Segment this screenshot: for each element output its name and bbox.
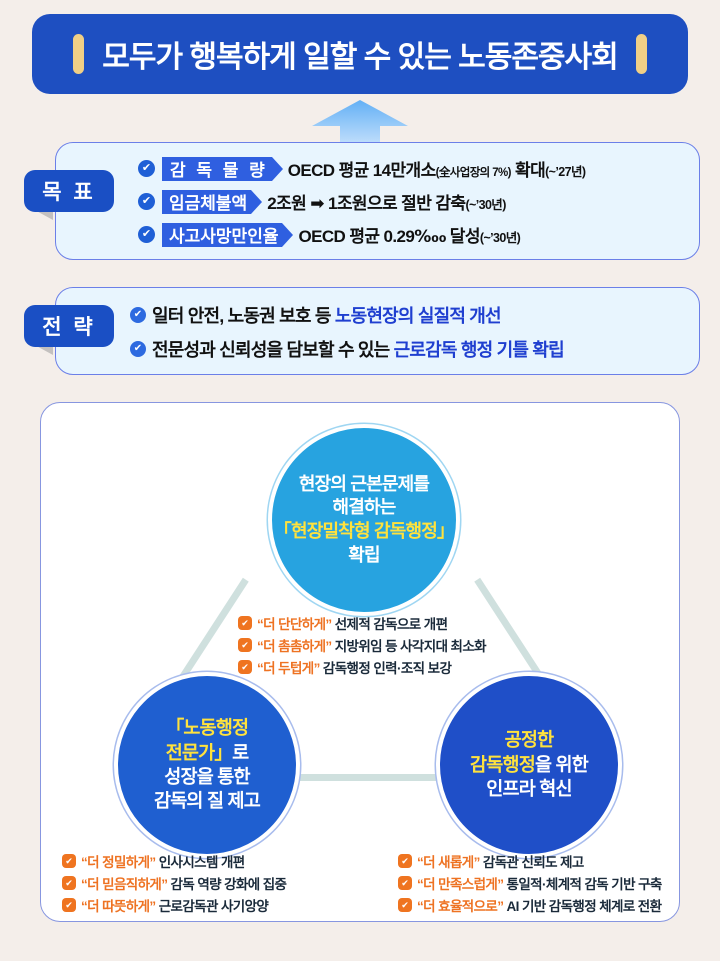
check-icon: ✔ — [62, 876, 76, 890]
circle-left-line1: 「노동행정 — [154, 716, 260, 740]
circle-top-line1: 현장의 근본문제를 — [274, 473, 454, 497]
infographic-page: 모두가 행복하게 일할 수 있는 노동존중사회 목 표 ✔ 감 독 물 량 OE… — [0, 0, 720, 961]
up-arrow-icon — [312, 100, 408, 142]
check-icon: ✔ — [62, 898, 76, 912]
bullet-text: “더 효율적으로” AI 기반 감독행정 체계로 전환 — [417, 895, 661, 915]
bullet-item: ✔ “더 단단하게” 선제적 감독으로 개편 — [238, 612, 486, 634]
check-icon: ✔ — [398, 898, 412, 912]
bullet-text: “더 두텁게” 감독행정 인력·조직 보강 — [257, 657, 451, 677]
circle-left: 「노동행정 전문가」로 성장을 통한 감독의 질 제고 — [114, 672, 300, 858]
circle-left-text: 「노동행정 전문가」로 성장을 통한 감독의 질 제고 — [154, 716, 260, 814]
goal-description: OECD 평균 14만개소(全사업장의 7%) 확대(~’27년) — [288, 156, 586, 181]
bullet-text: “더 촘촘하게” 지방위임 등 사각지대 최소화 — [257, 635, 486, 655]
bullet-item: ✔ “더 촘촘하게” 지방위임 등 사각지대 최소화 — [238, 634, 486, 656]
strategy-text: 전문성과 신뢰성을 담보할 수 있는 근로감독 행정 기틀 확립 — [152, 336, 564, 362]
goal-description: 2조원 ➡ 1조원으로 절반 감축(~’30년) — [267, 189, 506, 214]
circle-top-text: 현장의 근본문제를 해결하는 「현장밀착형 감독행정」 확립 — [274, 473, 454, 568]
check-icon: ✔ — [238, 616, 252, 630]
circle-right-line1: 공정한 — [470, 728, 588, 752]
circle-left-line3: 성장을 통한 — [154, 765, 260, 789]
strategy-row: ✔ 일터 안전, 노동권 보호 등 노동현장의 실질적 개선 — [130, 298, 564, 332]
circle-left-line4: 감독의 질 제고 — [154, 789, 260, 813]
circle-top: 현장의 근본문제를 해결하는 「현장밀착형 감독행정」 확립 — [268, 424, 460, 616]
strategy-row-list: ✔ 일터 안전, 노동권 보호 등 노동현장의 실질적 개선 ✔ 전문성과 신뢰… — [130, 298, 564, 366]
check-icon: ✔ — [138, 226, 155, 243]
goal-row: ✔ 임금체불액 2조원 ➡ 1조원으로 절반 감축(~’30년) — [138, 185, 585, 218]
page-title: 모두가 행복하게 일할 수 있는 노동존중사회 — [102, 32, 617, 76]
strategy-badge: 전 략 — [24, 305, 114, 347]
goal-badge: 목 표 — [24, 170, 114, 212]
check-icon: ✔ — [130, 341, 146, 357]
circle-top-line4: 확립 — [274, 544, 454, 568]
title-accent-left-icon — [73, 34, 84, 74]
bullet-item: ✔ “더 새롭게” 감독관 신뢰도 제고 — [398, 850, 662, 872]
goal-row: ✔ 감 독 물 량 OECD 평균 14만개소(全사업장의 7%) 확대(~’2… — [138, 152, 585, 185]
strategy-row: ✔ 전문성과 신뢰성을 담보할 수 있는 근로감독 행정 기틀 확립 — [130, 332, 564, 366]
circle-top-line2: 해결하는 — [274, 496, 454, 520]
bullet-text: “더 믿음직하게” 감독 역량 강화에 집중 — [81, 873, 286, 893]
bullet-item: ✔ “더 효율적으로” AI 기반 감독행정 체계로 전환 — [398, 894, 662, 916]
circle-left-line2: 전문가」로 — [154, 741, 260, 765]
bullet-item: ✔ “더 정밀하게” 인사시스템 개편 — [62, 850, 286, 872]
check-icon: ✔ — [130, 307, 146, 323]
bullet-list-left: ✔ “더 정밀하게” 인사시스템 개편 ✔ “더 믿음직하게” 감독 역량 강화… — [62, 850, 286, 916]
goal-row: ✔ 사고사망만인율 OECD 평균 0.29‱ 달성(~’30년) — [138, 218, 585, 251]
page-title-banner: 모두가 행복하게 일할 수 있는 노동존중사회 — [32, 14, 688, 94]
goal-row-list: ✔ 감 독 물 량 OECD 평균 14만개소(全사업장의 7%) 확대(~’2… — [138, 152, 585, 251]
goal-tag: 감 독 물 량 — [162, 157, 272, 181]
bullet-text: “더 만족스럽게” 통일적·체계적 감독 기반 구축 — [417, 873, 662, 893]
goal-tag: 사고사망만인율 — [162, 223, 282, 247]
title-accent-right-icon — [636, 34, 647, 74]
bullet-text: “더 새롭게” 감독관 신뢰도 제고 — [417, 851, 584, 871]
check-icon: ✔ — [62, 854, 76, 868]
goal-tag: 임금체불액 — [162, 190, 251, 214]
check-icon: ✔ — [238, 660, 252, 674]
bullet-text: “더 정밀하게” 인사시스템 개편 — [81, 851, 245, 871]
circle-top-line3: 「현장밀착형 감독행정」 — [274, 520, 454, 544]
check-icon: ✔ — [138, 193, 155, 210]
connector-line-bottom — [290, 774, 440, 781]
check-icon: ✔ — [398, 854, 412, 868]
bullet-list-right: ✔ “더 새롭게” 감독관 신뢰도 제고 ✔ “더 만족스럽게” 통일적·체계적… — [398, 850, 662, 916]
circle-right: 공정한 감독행정을 위한 인프라 혁신 — [436, 672, 622, 858]
circle-right-line2: 감독행정을 위한 — [470, 753, 588, 777]
bullet-text: “더 따뜻하게” 근로감독관 사기앙양 — [81, 895, 268, 915]
check-icon: ✔ — [398, 876, 412, 890]
strategy-text: 일터 안전, 노동권 보호 등 노동현장의 실질적 개선 — [152, 302, 501, 328]
circle-right-line3: 인프라 혁신 — [470, 777, 588, 801]
bullet-list-top: ✔ “더 단단하게” 선제적 감독으로 개편 ✔ “더 촘촘하게” 지방위임 등… — [238, 612, 486, 678]
check-icon: ✔ — [138, 160, 155, 177]
bullet-text: “더 단단하게” 선제적 감독으로 개편 — [257, 613, 447, 633]
circle-right-text: 공정한 감독행정을 위한 인프라 혁신 — [470, 728, 588, 801]
check-icon: ✔ — [238, 638, 252, 652]
bullet-item: ✔ “더 만족스럽게” 통일적·체계적 감독 기반 구축 — [398, 872, 662, 894]
goal-description: OECD 평균 0.29‱ 달성(~’30년) — [298, 222, 520, 247]
bullet-item: ✔ “더 믿음직하게” 감독 역량 강화에 집중 — [62, 872, 286, 894]
bullet-item: ✔ “더 두텁게” 감독행정 인력·조직 보강 — [238, 656, 486, 678]
bullet-item: ✔ “더 따뜻하게” 근로감독관 사기앙양 — [62, 894, 286, 916]
